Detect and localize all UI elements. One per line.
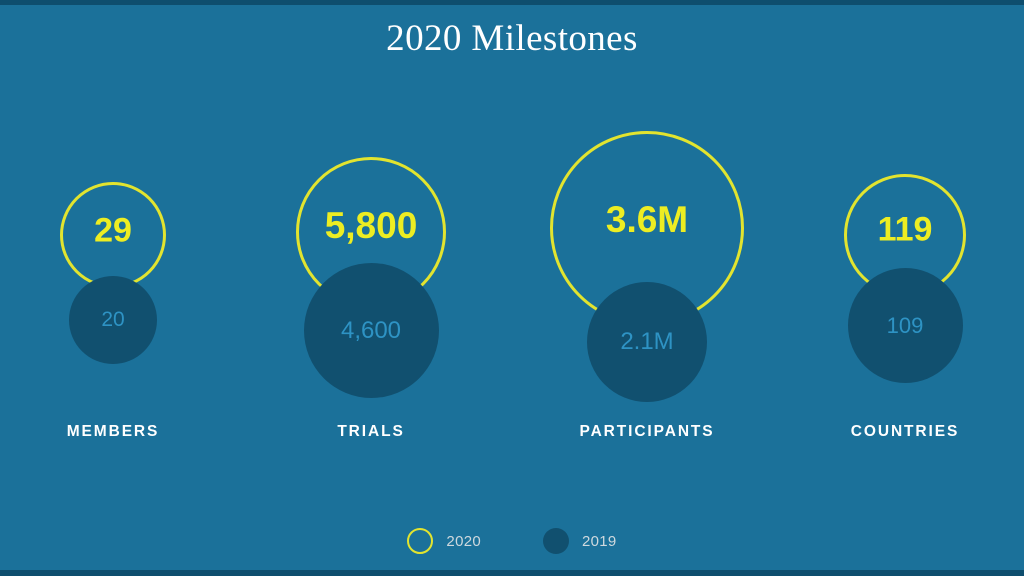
metric-group-participants[interactable]: 3.6M2.1MPARTICIPANTS — [554, 120, 740, 460]
bottom-edge-band — [0, 570, 1024, 576]
metric-circles-members: 2920 — [20, 120, 206, 420]
value-2019-trials: 4,600 — [341, 317, 401, 345]
top-edge-band — [0, 0, 1024, 5]
ring-outline-icon — [407, 528, 433, 554]
slide-canvas: 2020 Milestones 2920MEMBERS5,8004,600TRI… — [0, 0, 1024, 576]
chart-legend: 2020 2019 — [0, 528, 1024, 554]
value-2020-participants: 3.6M — [606, 199, 688, 241]
legend-item-2020[interactable]: 2020 — [407, 528, 481, 554]
value-2020-countries: 119 — [878, 211, 933, 250]
legend-label-2019: 2019 — [582, 533, 617, 550]
metric-group-countries[interactable]: 119109COUNTRIES — [812, 120, 998, 460]
value-2020-members: 29 — [94, 211, 132, 250]
category-label-countries: COUNTRIES — [812, 423, 998, 441]
metric-circles-participants: 3.6M2.1M — [554, 120, 740, 420]
filled-circle-icon — [543, 528, 569, 554]
metric-group-trials[interactable]: 5,8004,600TRIALS — [278, 120, 464, 460]
value-2019-participants: 2.1M — [620, 328, 673, 356]
value-2019-members: 20 — [101, 308, 124, 332]
value-2020-trials: 5,800 — [325, 205, 418, 247]
page-title: 2020 Milestones — [0, 16, 1024, 62]
category-label-trials: TRIALS — [278, 423, 464, 441]
category-label-members: MEMBERS — [20, 423, 206, 441]
legend-item-2019[interactable]: 2019 — [543, 528, 617, 554]
metric-group-members[interactable]: 2920MEMBERS — [20, 120, 206, 460]
metric-circles-trials: 5,8004,600 — [278, 120, 464, 420]
category-label-participants: PARTICIPANTS — [554, 423, 740, 441]
metric-circles-countries: 119109 — [812, 120, 998, 420]
legend-label-2020: 2020 — [446, 533, 481, 550]
value-2019-countries: 109 — [887, 313, 924, 339]
